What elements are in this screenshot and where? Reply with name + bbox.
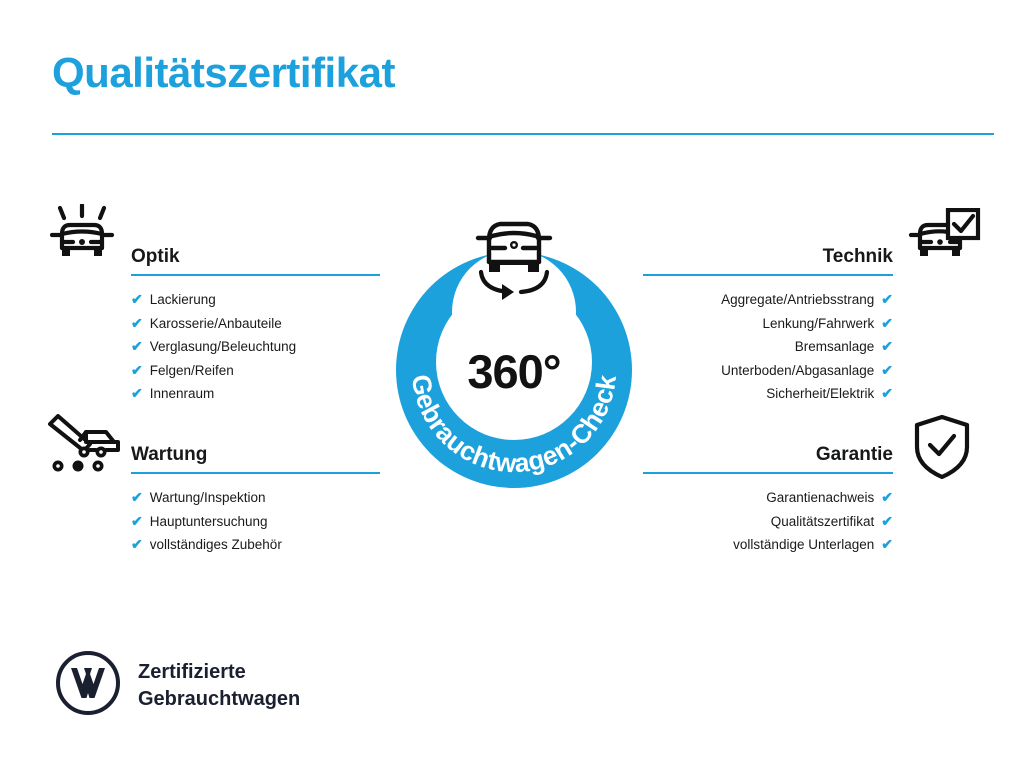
list-item-label: Felgen/Reifen (150, 363, 234, 378)
list-item: Aggregate/Antriebsstrang✔ (643, 288, 893, 312)
vw-certified-lockup: Zertifizierte Gebrauchtwagen (55, 650, 300, 721)
section-technik-list: Aggregate/Antriebsstrang✔ Lenkung/Fahrwe… (643, 288, 893, 406)
badge-360-check: Gebrauchtwagen-Check 360° (382, 250, 646, 490)
section-wartung: Wartung ✔Wartung/Inspektion ✔Hauptunters… (131, 430, 380, 557)
check-icon: ✔ (131, 338, 143, 354)
check-icon: ✔ (881, 362, 893, 378)
list-item-label: Aggregate/Antriebsstrang (721, 292, 874, 307)
badge-degrees-label: 360° (382, 344, 646, 399)
check-icon: ✔ (131, 513, 143, 529)
list-item-label: vollständiges Zubehör (150, 537, 282, 552)
list-item: ✔Felgen/Reifen (131, 359, 380, 383)
list-item: Qualitätszertifikat✔ (643, 510, 893, 534)
vw-wordmark-line1: Zertifizierte (138, 659, 300, 686)
list-item-label: Sicherheit/Elektrik (766, 386, 874, 401)
list-item: ✔vollständiges Zubehör (131, 533, 380, 557)
section-garantie: Garantie Garantienachweis✔ Qualitätszert… (643, 430, 893, 557)
list-item: ✔Innenraum (131, 382, 380, 406)
title-divider (52, 133, 994, 135)
list-item-label: Unterboden/Abgasanlage (721, 363, 874, 378)
list-item-label: Garantienachweis (766, 490, 874, 505)
check-icon: ✔ (131, 315, 143, 331)
car-shine-icon (46, 204, 118, 279)
section-optik-header: Optik (131, 232, 380, 276)
check-icon: ✔ (131, 536, 143, 552)
section-wartung-divider (131, 472, 380, 474)
section-optik-list: ✔Lackierung ✔Karosserie/Anbauteile ✔Verg… (131, 288, 380, 406)
list-item-label: Karosserie/Anbauteile (150, 316, 282, 331)
list-item: ✔Lackierung (131, 288, 380, 312)
car-rotate-360-icon (464, 196, 564, 311)
list-item-label: vollständige Unterlagen (733, 537, 874, 552)
section-garantie-list: Garantienachweis✔ Qualitätszertifikat✔ v… (643, 486, 893, 557)
list-item-label: Bremsanlage (795, 339, 875, 354)
vw-wordmark-line2: Gebrauchtwagen (138, 686, 300, 713)
check-icon: ✔ (131, 489, 143, 505)
section-optik-title: Optik (131, 246, 180, 268)
check-icon: ✔ (881, 338, 893, 354)
section-wartung-header: Wartung (131, 430, 380, 474)
section-technik-title: Technik (823, 246, 893, 268)
list-item-label: Verglasung/Beleuchtung (150, 339, 296, 354)
list-item-label: Innenraum (150, 386, 215, 401)
section-wartung-list: ✔Wartung/Inspektion ✔Hauptuntersuchung ✔… (131, 486, 380, 557)
list-item: ✔Wartung/Inspektion (131, 486, 380, 510)
list-item-label: Hauptuntersuchung (150, 514, 268, 529)
section-garantie-header: Garantie (643, 430, 893, 474)
list-item-label: Qualitätszertifikat (771, 514, 875, 529)
vw-wordmark: Zertifizierte Gebrauchtwagen (138, 659, 300, 713)
check-icon: ✔ (881, 513, 893, 529)
section-technik-divider (643, 274, 893, 276)
list-item: Unterboden/Abgasanlage✔ (643, 359, 893, 383)
vw-logo (55, 650, 121, 721)
section-garantie-divider (643, 472, 893, 474)
section-technik: Technik Aggregate/Antriebsstrang✔ Lenkun… (643, 232, 893, 406)
list-item: Lenkung/Fahrwerk✔ (643, 312, 893, 336)
section-garantie-title: Garantie (816, 444, 893, 466)
check-icon: ✔ (131, 385, 143, 401)
check-icon: ✔ (881, 536, 893, 552)
list-item-label: Lackierung (150, 292, 216, 307)
check-icon: ✔ (881, 315, 893, 331)
list-item: ✔Karosserie/Anbauteile (131, 312, 380, 336)
page-title: Qualitätszertifikat (52, 50, 395, 96)
car-checkbox-icon (908, 208, 982, 275)
list-item: Bremsanlage✔ (643, 335, 893, 359)
list-item: Garantienachweis✔ (643, 486, 893, 510)
section-technik-header: Technik (643, 232, 893, 276)
shield-check-icon (912, 414, 972, 485)
check-icon: ✔ (881, 291, 893, 307)
section-wartung-title: Wartung (131, 444, 207, 466)
list-item: Sicherheit/Elektrik✔ (643, 382, 893, 406)
list-item-label: Lenkung/Fahrwerk (762, 316, 874, 331)
list-item: ✔Hauptuntersuchung (131, 510, 380, 534)
list-item: vollständige Unterlagen✔ (643, 533, 893, 557)
check-icon: ✔ (131, 291, 143, 307)
list-item-label: Wartung/Inspektion (150, 490, 266, 505)
check-icon: ✔ (881, 489, 893, 505)
car-service-tool-icon (46, 414, 126, 479)
section-optik-divider (131, 274, 380, 276)
check-icon: ✔ (881, 385, 893, 401)
list-item: ✔Verglasung/Beleuchtung (131, 335, 380, 359)
section-optik: Optik ✔Lackierung ✔Karosserie/Anbauteile… (131, 232, 380, 406)
check-icon: ✔ (131, 362, 143, 378)
